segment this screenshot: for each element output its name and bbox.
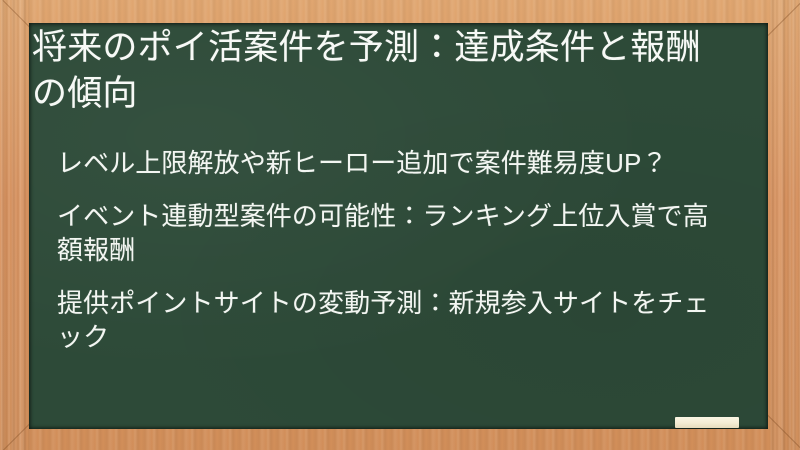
- list-item: イベント連動型案件の可能性：ランキング上位入賞で高額報酬: [57, 199, 730, 268]
- chalkboard-surface: 将来のポイ活案件を予測：達成条件と報酬の傾向 レベル上限解放や新ヒーロー追加で案…: [29, 23, 768, 429]
- list-item: レベル上限解放や新ヒーロー追加で案件難易度UP？: [57, 146, 730, 181]
- chalkboard-content: 将来のポイ活案件を予測：達成条件と報酬の傾向 レベル上限解放や新ヒーロー追加で案…: [29, 23, 768, 429]
- chalkboard-title-card: 将来のポイ活案件を予測：達成条件と報酬の傾向 レベル上限解放や新ヒーロー追加で案…: [0, 0, 800, 450]
- chalk-stick-icon: [675, 417, 739, 428]
- frame-stile-left: [0, 0, 30, 450]
- page-title: 将来のポイ活案件を予測：達成条件と報酬の傾向: [32, 25, 728, 116]
- bullet-list: レベル上限解放や新ヒーロー追加で案件難易度UP？ イベント連動型案件の可能性：ラ…: [57, 146, 730, 355]
- frame-stile-right: [770, 0, 800, 450]
- list-item: 提供ポイントサイトの変動予測：新規参入サイトをチェック: [57, 286, 730, 355]
